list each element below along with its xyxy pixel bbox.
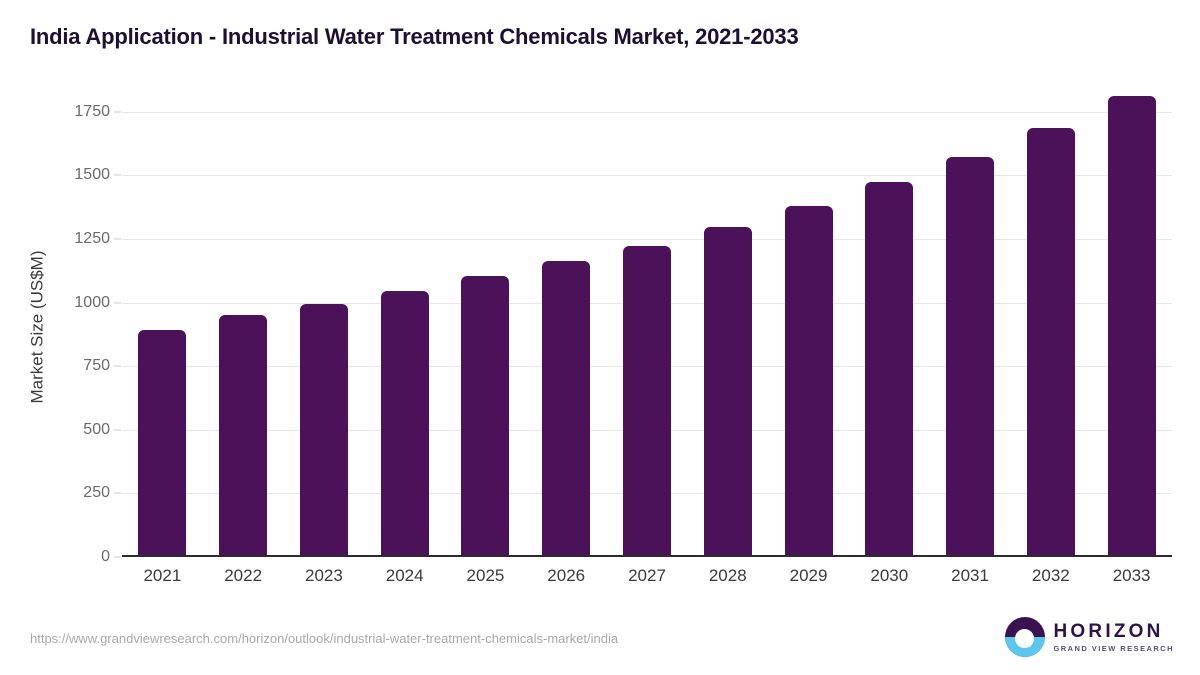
x-axis-tick-label: 2025 [445,566,525,586]
y-axis-tick-mark [114,239,121,240]
bar-fill [1108,96,1156,557]
bar[interactable] [946,157,994,557]
bar[interactable] [219,315,267,557]
brand-logo: HORIZON GRAND VIEW RESEARCH [1005,617,1174,657]
y-axis-title-label: Market Size (US$M) [28,250,48,403]
x-axis-tick-label: 2027 [607,566,687,586]
bar[interactable] [623,246,671,557]
bar[interactable] [1108,96,1156,557]
y-axis-tick-mark [114,302,121,303]
bar-series [122,96,1172,557]
y-axis-title: Market Size (US$M) [26,96,50,557]
logo-ray-2 [1019,645,1031,647]
brand-wordmark: HORIZON GRAND VIEW RESEARCH [1054,622,1174,653]
bar[interactable] [381,291,429,557]
x-axis-tick-label: 2022 [203,566,283,586]
y-axis-tick-label: 500 [48,421,110,439]
bar[interactable] [138,330,186,557]
bar[interactable] [542,261,590,557]
y-axis-tick-mark [114,493,121,494]
bar-fill [865,182,913,557]
brand-subtitle: GRAND VIEW RESEARCH [1054,645,1174,653]
x-axis-tick-label: 2029 [769,566,849,586]
bar-fill [946,157,994,557]
bar[interactable] [865,182,913,557]
y-axis-tick-mark [114,429,121,430]
x-axis-tick-label: 2024 [365,566,445,586]
bar-fill [704,227,752,557]
x-axis-tick-label: 2030 [849,566,929,586]
x-axis-tick-label: 2032 [1011,566,1091,586]
bar-fill [138,330,186,557]
bar[interactable] [300,304,348,557]
y-axis-tick-mark [114,175,121,176]
x-axis-tick-label: 2033 [1092,566,1172,586]
x-axis-tick-label: 2021 [122,566,202,586]
bar-fill [219,315,267,557]
x-axis-tick-label: 2026 [526,566,606,586]
bar-fill [461,276,509,557]
bar-fill [542,261,590,557]
brand-name: HORIZON [1054,622,1174,641]
y-axis-tick-label: 250 [48,484,110,502]
x-axis-tick-label: 2028 [688,566,768,586]
bar-fill [381,291,429,557]
y-axis-tick-mark [114,557,121,558]
y-axis-tick-label: 1250 [48,230,110,248]
plot-area [122,96,1172,557]
y-axis-tick-mark [114,111,121,112]
bar[interactable] [1027,128,1075,557]
bar-fill [1027,128,1075,557]
y-axis-tick-label: 0 [48,548,110,566]
logo-ray-1 [1016,641,1033,643]
x-axis-tick-label: 2031 [930,566,1010,586]
page-title: India Application - Industrial Water Tre… [30,24,798,50]
y-axis-tick-label: 750 [48,357,110,375]
bar-fill [300,304,348,557]
y-axis-tick-label: 1750 [48,103,110,121]
bar-fill [623,246,671,557]
y-axis-tick-label: 1000 [48,294,110,312]
bar[interactable] [785,206,833,557]
bar-fill [785,206,833,557]
x-axis-tick-label: 2023 [284,566,364,586]
bar[interactable] [704,227,752,557]
bar[interactable] [461,276,509,557]
y-axis-tick-mark [114,366,121,367]
y-axis-tick-label: 1500 [48,166,110,184]
source-url[interactable]: https://www.grandviewresearch.com/horizo… [30,631,618,646]
chart-page: India Application - Industrial Water Tre… [0,0,1200,675]
x-axis-line [122,555,1172,557]
horizon-sunrise-circle-icon [1005,617,1045,657]
